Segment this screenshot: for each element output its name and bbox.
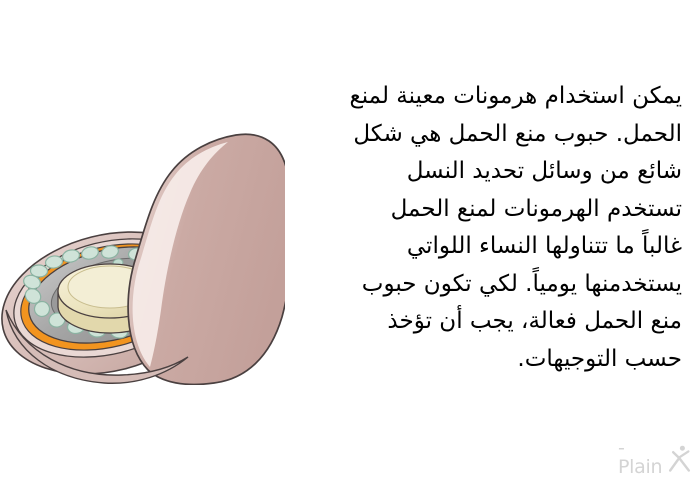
- birth-control-pill-compact-illustration: [0, 95, 285, 385]
- x-plain-wordmark: -Plain: [618, 439, 668, 477]
- article-body-text: يمكن استخدام هرمونات معينة لمنع الحمل. ح…: [290, 78, 682, 378]
- body-line-2: الحمل. حبوب منع الحمل هي شكل: [290, 116, 682, 154]
- body-line-5: غالباً ما تتناولها النساء اللواتي: [290, 228, 682, 266]
- pill-compact-svg: [0, 95, 285, 385]
- body-line-4: تستخدم الهرمونات لمنع الحمل: [290, 191, 682, 229]
- x-plain-logo: -Plain: [620, 443, 692, 473]
- body-line-3: شائع من وسائل تحديد النسل: [290, 153, 682, 191]
- x-plain-figure-icon: [668, 444, 692, 472]
- page-root: يمكن استخدام هرمونات معينة لمنع الحمل. ح…: [0, 0, 700, 480]
- body-line-1: يمكن استخدام هرمونات معينة لمنع: [290, 78, 682, 116]
- compact-lid: [128, 134, 285, 384]
- body-line-7: منع الحمل فعالة، يجب أن تؤخذ: [290, 303, 682, 341]
- body-line-6: يستخدمنها يومياً. لكي تكون حبوب: [290, 266, 682, 304]
- body-line-8: حسب التوجيهات.: [290, 341, 682, 379]
